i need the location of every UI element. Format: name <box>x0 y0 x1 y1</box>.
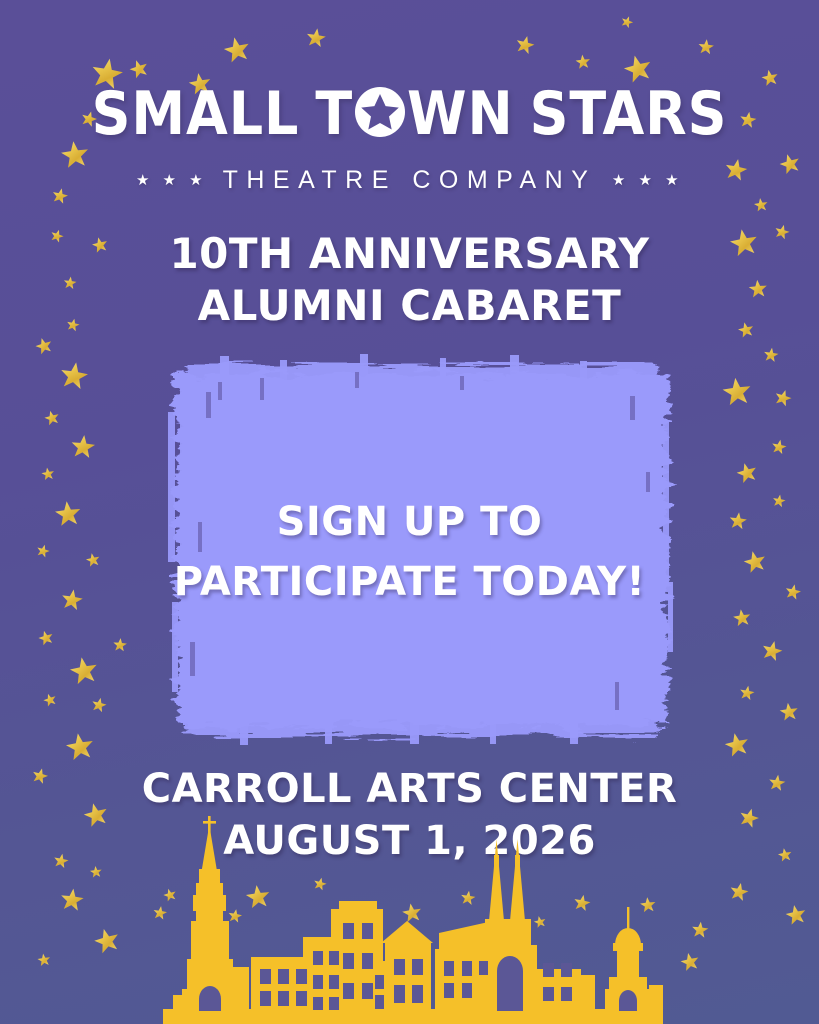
gold-star-icon <box>33 335 55 357</box>
cta-line-1: SIGN UP TO <box>0 492 819 552</box>
gold-star-icon <box>58 886 86 914</box>
gold-star-icon <box>727 880 751 904</box>
tagline-stars-right: ★ ★ ★ <box>612 172 683 189</box>
gold-star-icon <box>90 924 123 957</box>
gold-star-icon <box>690 920 710 940</box>
headline-line-1: 10TH ANNIVERSARY <box>0 228 819 280</box>
gold-star-icon <box>770 438 789 457</box>
gold-star-icon <box>220 33 253 66</box>
gold-star-icon <box>619 14 636 31</box>
star-in-circle-icon <box>354 86 406 138</box>
logo-word-small: SMALL <box>92 83 300 145</box>
gold-star-icon <box>759 638 786 665</box>
gold-star-icon <box>112 637 128 653</box>
gold-star-icon <box>126 56 151 81</box>
gold-star-icon <box>678 950 702 974</box>
gold-star-icon <box>36 628 56 648</box>
logo-word-town-part2: WN <box>407 83 514 145</box>
town-skyline-silhouette <box>163 809 663 1024</box>
tagline-stars-left: ★ ★ ★ <box>136 172 207 189</box>
gold-star-icon <box>67 654 102 689</box>
gold-star-icon <box>783 902 809 928</box>
gold-star-icon <box>722 730 753 761</box>
headline-line-2: ALUMNI CABARET <box>0 280 819 332</box>
gold-star-icon <box>753 197 770 214</box>
poster-canvas: SMALLTWNSTARS ★ ★ ★ THEATRE COMPANY ★ ★ … <box>0 0 819 1024</box>
gold-star-icon <box>63 730 97 764</box>
gold-star-icon <box>36 952 52 968</box>
gold-star-icon <box>734 460 761 487</box>
logo-wordmark: SMALLTWNSTARS <box>0 80 819 145</box>
cta-line-2: PARTICIPATE TODAY! <box>0 552 819 612</box>
gold-star-icon <box>772 387 794 409</box>
logo-word-town-part1: T <box>315 83 353 145</box>
company-tagline: ★ ★ ★ THEATRE COMPANY ★ ★ ★ <box>0 166 819 195</box>
call-to-action: SIGN UP TO PARTICIPATE TODAY! <box>0 492 819 612</box>
gold-star-icon <box>762 346 780 364</box>
gold-star-icon <box>513 33 537 57</box>
gold-star-icon <box>304 26 328 50</box>
gold-star-icon <box>57 359 91 393</box>
gold-star-icon <box>738 684 757 703</box>
gold-star-icon <box>89 695 108 714</box>
gold-star-icon <box>40 466 56 482</box>
gold-star-icon <box>697 38 716 57</box>
gold-star-icon <box>720 375 755 410</box>
gold-star-icon <box>69 433 98 462</box>
gold-star-icon <box>41 691 59 709</box>
gold-star-icon <box>574 53 592 71</box>
event-venue: CARROLL ARTS CENTER <box>0 764 819 814</box>
gold-star-icon <box>42 408 61 427</box>
gold-star-icon <box>778 701 800 723</box>
event-headline: 10TH ANNIVERSARY ALUMNI CABARET <box>0 228 819 332</box>
logo-word-stars: STARS <box>530 83 728 145</box>
company-name: THEATRE COMPANY <box>223 166 597 195</box>
